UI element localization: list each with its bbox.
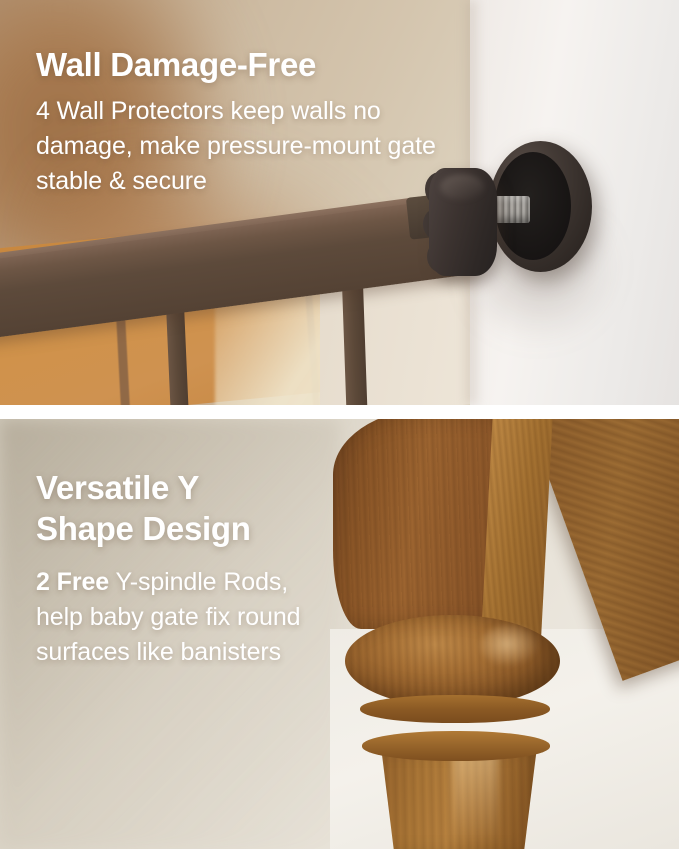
panel-divider — [0, 405, 679, 419]
newel-post-lower-highlight — [452, 749, 498, 845]
heading-line-2: Shape Design — [36, 508, 366, 549]
panel-heading-versatile-y-shape-design: Versatile Y Shape Design — [36, 467, 366, 549]
panel-heading-wall-damage-free: Wall Damage-Free — [36, 44, 456, 85]
heading-line-1: Versatile Y — [36, 467, 366, 508]
panel-body-versatile-y-shape-design: 2 Free Y-spindle Rods, help baby gate fi… — [36, 565, 386, 670]
newel-post-collar — [362, 731, 550, 761]
newel-post-collar — [360, 695, 550, 723]
panel-body-wall-damage-free: 4 Wall Protectors keep walls no damage, … — [36, 94, 456, 199]
product-feature-graphic: Wall Damage-Free 4 Wall Protectors keep … — [0, 0, 679, 849]
body-emphasis: 2 Free — [36, 568, 109, 596]
feature-panel-wall-damage-free: Wall Damage-Free 4 Wall Protectors keep … — [0, 0, 679, 405]
